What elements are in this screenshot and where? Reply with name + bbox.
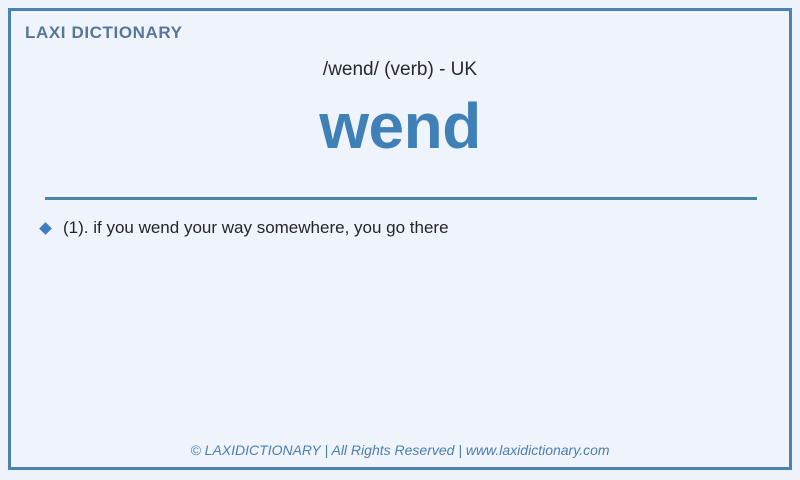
diamond-bullet-icon [39,222,52,235]
page-title: LAXI DICTIONARY [25,23,183,43]
headword: wend [11,89,789,163]
pronunciation-line: /wend/ (verb) - UK [11,59,789,81]
definition-text: (1). if you wend your way somewhere, you… [63,217,449,239]
dictionary-card: LAXI DICTIONARY /wend/ (verb) - UK wend … [8,8,792,470]
footer-copyright: © LAXIDICTIONARY | All Rights Reserved |… [11,442,789,458]
section-divider [45,197,757,200]
definition-list: (1). if you wend your way somewhere, you… [37,217,763,245]
list-item: (1). if you wend your way somewhere, you… [37,217,763,239]
